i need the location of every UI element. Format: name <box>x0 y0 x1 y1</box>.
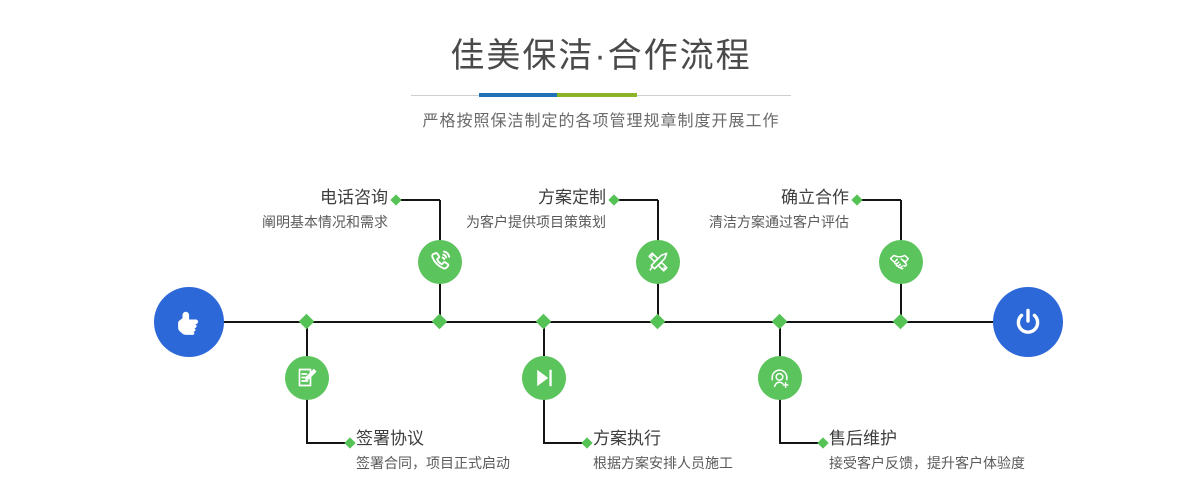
label-desc-step-1: 阐明基本情况和需求 <box>146 211 388 233</box>
timeline-end-node[interactable] <box>993 287 1063 357</box>
node-icon-step-4[interactable] <box>522 356 566 400</box>
label-step-5: 确立合作 清洁方案通过客户评估 <box>607 187 849 233</box>
handshake-icon <box>888 249 914 275</box>
page-subtitle: 严格按照保洁制定的各项管理规章制度开展工作 <box>0 111 1202 133</box>
node-icon-step-3[interactable] <box>636 240 680 284</box>
play-execute-icon <box>531 365 557 391</box>
label-desc-step-3: 为客户提供项目策策划 <box>364 211 606 233</box>
node-icon-step-2[interactable] <box>285 356 329 400</box>
title-divider <box>411 89 791 101</box>
axis-marker-step-5 <box>893 314 909 330</box>
node-icon-step-1[interactable] <box>418 240 462 284</box>
axis-marker-step-2 <box>299 314 315 330</box>
pencil-ruler-icon <box>645 249 671 275</box>
label-step-1: 电话咨询 阐明基本情况和需求 <box>146 187 388 233</box>
label-desc-step-5: 清洁方案通过客户评估 <box>607 211 849 233</box>
axis-marker-step-1 <box>432 314 448 330</box>
axis-marker-step-4 <box>536 314 552 330</box>
label-title-step-5: 确立合作 <box>607 187 849 209</box>
divider-segment-blue <box>479 93 557 97</box>
page-header: 佳美保洁·合作流程 严格按照保洁制定的各项管理规章制度开展工作 <box>0 34 1202 133</box>
timeline-axis <box>155 321 1063 323</box>
hand-pointing-right-icon <box>169 302 209 342</box>
document-sign-icon <box>294 365 320 391</box>
phone-call-icon <box>427 249 453 275</box>
power-icon <box>1008 302 1048 342</box>
leader-dot-step-2 <box>344 437 355 448</box>
leader-dot-step-5 <box>851 194 862 205</box>
node-icon-step-6[interactable] <box>758 356 802 400</box>
label-step-3: 方案定制 为客户提供项目策策划 <box>364 187 606 233</box>
axis-marker-step-6 <box>772 314 788 330</box>
customer-service-add-icon <box>767 365 793 391</box>
axis-marker-step-3 <box>650 314 666 330</box>
leader-line-step-1 <box>396 199 440 201</box>
label-title-step-1: 电话咨询 <box>146 187 388 209</box>
timeline-start-node[interactable] <box>154 287 224 357</box>
label-desc-step-6: 接受客户反馈，提升客户体验度 <box>829 452 1129 474</box>
divider-segment-green <box>557 93 637 97</box>
label-title-step-6: 售后维护 <box>829 428 1129 450</box>
node-icon-step-5[interactable] <box>879 240 923 284</box>
label-step-6: 售后维护 接受客户反馈，提升客户体验度 <box>829 428 1129 474</box>
page-title: 佳美保洁·合作流程 <box>0 34 1202 78</box>
flow-diagram-page: 佳美保洁·合作流程 严格按照保洁制定的各项管理规章制度开展工作 <box>0 0 1202 502</box>
leader-line-step-5 <box>857 199 901 201</box>
leader-line-step-3 <box>614 199 658 201</box>
